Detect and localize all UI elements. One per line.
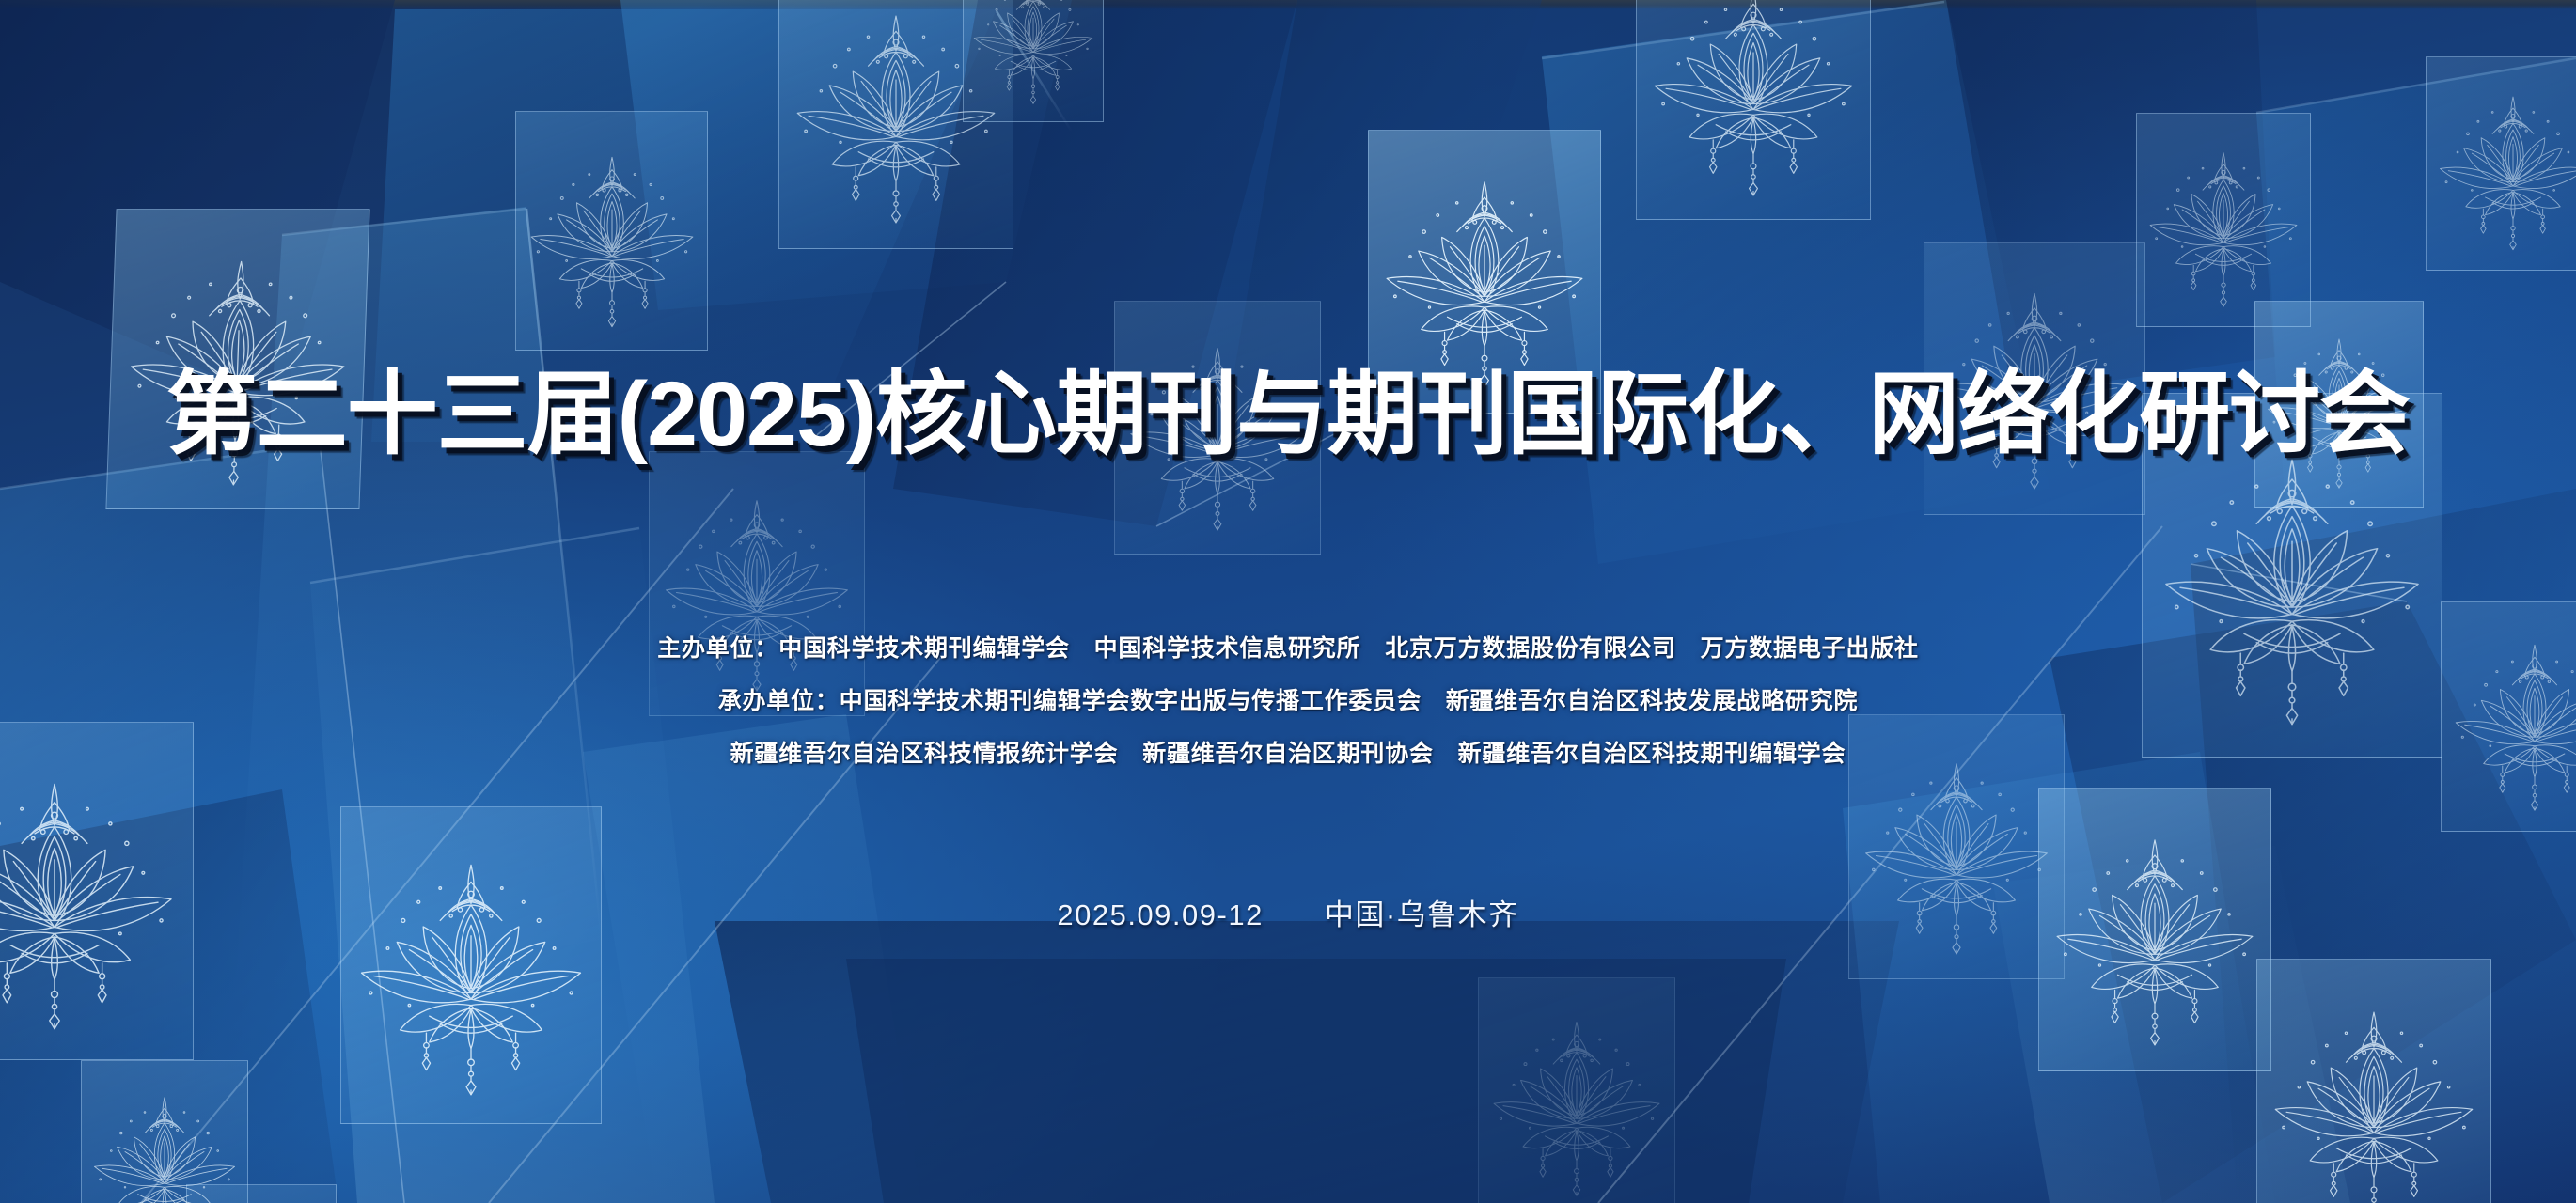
host-organizers-line: 主办单位：中国科学技术期刊编辑学会 中国科学技术信息研究所 北京万方数据股份有限… — [0, 630, 2576, 664]
co-organizers-line-2: 新疆维吾尔自治区科技情报统计学会 新疆维吾尔自治区期刊协会 新疆维吾尔自治区科技… — [0, 735, 2576, 769]
page-title: 第二十三届(2025)核心期刊与期刊国际化、网络化研讨会 — [0, 368, 2576, 460]
event-date-location: 2025.09.09-12 中国·乌鲁木齐 — [0, 891, 2576, 933]
banner-content: 第二十三届(2025)核心期刊与期刊国际化、网络化研讨会 主办单位：中国科学技术… — [0, 0, 2576, 1203]
co-organizers-line-1: 承办单位：中国科学技术期刊编辑学会数字出版与传播工作委员会 新疆维吾尔自治区科技… — [0, 682, 2576, 716]
conference-banner: 第二十三届(2025)核心期刊与期刊国际化、网络化研讨会 主办单位：中国科学技术… — [0, 0, 2576, 1203]
